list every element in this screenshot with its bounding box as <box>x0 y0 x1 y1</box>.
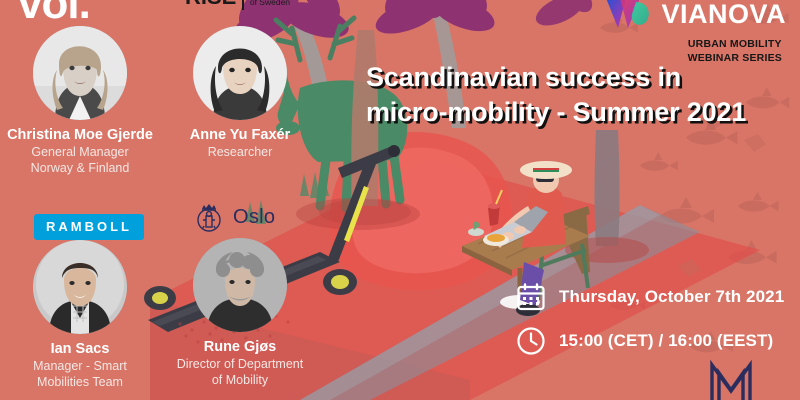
oslo-logo: Oslo <box>192 200 275 234</box>
event-time-row: 15:00 (CET) / 16:00 (EEST) <box>516 326 784 356</box>
rise-logo-mark: RISE <box>185 0 236 6</box>
speaker-role-line1: Manager - Smart <box>0 359 160 374</box>
title-line1: Scandinavian success in <box>366 60 790 95</box>
speaker-portrait-ian <box>33 240 127 334</box>
speaker-card-ian-sacs: Ian Sacs Manager - Smart Mobilities Team <box>0 240 160 390</box>
voi-logo-text: voi. <box>18 0 90 28</box>
speaker-role-line1: Director of Department <box>160 357 320 372</box>
speaker-name: Anne Yu Faxér <box>160 127 320 144</box>
rise-subtitle-line2: of Sweden <box>250 0 290 8</box>
clock-icon <box>516 326 546 356</box>
speaker-portrait-rune <box>193 238 287 332</box>
speaker-role-line1: Researcher <box>160 145 320 160</box>
speaker-portrait-anne <box>193 26 287 120</box>
calendar-icon <box>516 282 546 312</box>
rise-logo: RISE Institutes of Sweden <box>185 0 290 10</box>
rise-logo-divider <box>242 0 244 10</box>
event-date-text: Thursday, October 7th 2021 <box>559 287 784 307</box>
voi-logo: voi. <box>18 0 90 26</box>
vianova-brand-name: VIANOVA <box>661 1 786 28</box>
speaker-portrait-christina <box>33 26 127 120</box>
avatar <box>33 240 127 334</box>
rise-logo-subtitle: Institutes of Sweden <box>250 0 290 8</box>
event-date-row: Thursday, October 7th 2021 <box>516 282 784 312</box>
speaker-card-rune-gjos: Rune Gjøs Director of Department of Mobi… <box>160 238 320 388</box>
oslo-coat-of-arms-icon <box>192 200 226 234</box>
speaker-card-christina-moe-gjerde: Christina Moe Gjerde General Manager Nor… <box>0 26 160 176</box>
avatar <box>193 26 287 120</box>
vianova-brand: VIANOVA URBAN MOBILITY WEBINAR SERIES <box>602 0 786 65</box>
metro-m-logo <box>708 357 754 400</box>
speaker-name: Rune Gjøs <box>160 339 320 356</box>
avatar <box>193 238 287 332</box>
speaker-role-line2: of Mobility <box>160 373 320 388</box>
page-title: Scandinavian success in micro-mobility -… <box>366 60 790 129</box>
webinar-promo-banner: voi. RISE Institutes of Sweden RAMBOLL <box>0 0 800 400</box>
avatar <box>33 26 127 120</box>
ramboll-logo-text: RAMBOLL <box>46 219 132 234</box>
ramboll-logo: RAMBOLL <box>34 214 144 240</box>
speaker-card-anne-yu-faxer: Anne Yu Faxér Researcher <box>160 26 320 161</box>
event-time-text: 15:00 (CET) / 16:00 (EEST) <box>559 331 773 351</box>
speaker-name: Ian Sacs <box>0 341 160 358</box>
oslo-logo-text: Oslo <box>233 206 275 229</box>
speaker-name: Christina Moe Gjerde <box>0 127 160 144</box>
speaker-role-line1: General Manager <box>0 145 160 160</box>
speaker-role-line2: Mobilities Team <box>0 375 160 390</box>
metro-m-icon <box>708 357 754 400</box>
brand-subtitle-line1: URBAN MOBILITY <box>688 38 782 52</box>
speaker-role-line2: Norway & Finland <box>0 161 160 176</box>
title-line2: micro-mobility - Summer 2021 <box>366 95 790 130</box>
vianova-gradient-v-icon <box>602 0 656 34</box>
